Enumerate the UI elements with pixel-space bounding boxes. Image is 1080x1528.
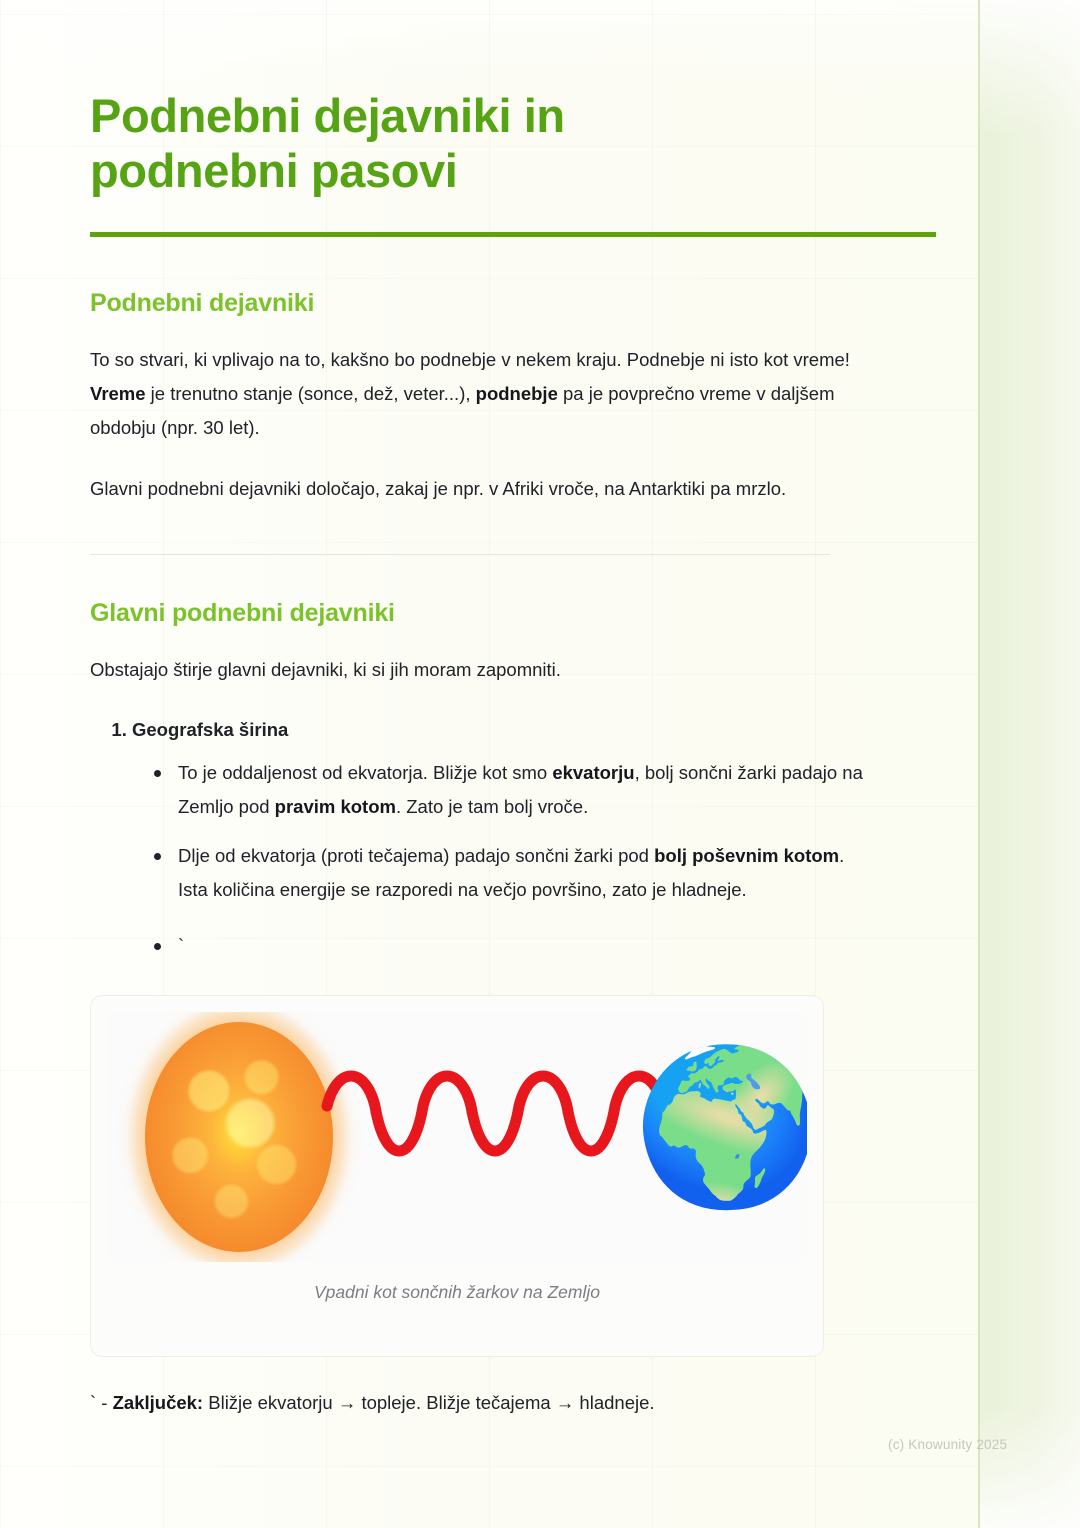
sun-surface-texture [145,1022,333,1252]
sun-disc [145,1022,333,1252]
list-item: Dlje od ekvatorja (proti tečajema) padaj… [150,839,878,907]
paragraph-definition-bold-vreme: Vreme [90,383,146,404]
bullet-bold-bolj-posevnim-kotom: bolj poševnim kotom [654,845,839,866]
paragraph-list-intro: Obstajajo štirje glavni dejavniki, ki si… [90,653,850,687]
bullet-text-backtick: ` [178,935,184,956]
list-item: To je oddaljenost od ekvatorja. Bližje k… [150,756,878,824]
list-item: ` [150,929,878,963]
bullet-bold-ekvatorju: ekvatorju [552,762,634,783]
paragraph-definition-text-1: To so stvari, ki vplivajo na to, kakšno … [90,349,850,370]
list-item-geografska-sirina: Geografska širina To je oddaljenost od e… [132,713,938,963]
sub-bullet-list: To je oddaljenost od ekvatorja. Bližje k… [132,756,938,963]
paragraph-definition-text-2: je trenutno stanje (sonce, dež, veter...… [146,383,476,404]
conclusion-prefix: ` - [90,1392,113,1413]
section-divider [90,554,830,555]
bullet-text-1: To je oddaljenost od ekvatorja. Bližje k… [178,762,552,783]
list-item-label: Geografska širina [132,719,288,740]
earth-globe-icon: 🌍 [633,1048,791,1206]
main-numbered-list: Geografska širina To je oddaljenost od e… [90,713,938,963]
content-column: Podnebni dejavniki in podnebni pasovi Po… [90,0,938,1528]
figure-image-panel: 🌍 [107,1012,807,1262]
right-margin-band [978,0,1080,1528]
paragraph-definition: To so stvari, ki vplivajo na to, kakšno … [90,343,850,446]
figure-card: 🌍 Vpadni kot sončnih žarkov na Zemljo [90,995,824,1357]
title-underline-rule [90,232,936,237]
section-heading-glavni-podnebni-dejavniki: Glavni podnebni dejavniki [90,599,938,628]
conclusion-bold-label: Zaključek: [113,1392,204,1413]
section-heading-podnebni-dejavniki: Podnebni dejavniki [90,289,938,318]
page-title: Podnebni dejavniki in podnebni pasovi [90,0,730,199]
sun-icon [131,1012,347,1262]
paragraph-examples: Glavni podnebni dejavniki določajo, zaka… [90,472,850,506]
conclusion-text: Bližje ekvatorju → topleje. Bližje tečaj… [203,1392,654,1413]
conclusion-line: ` - Zaključek: Bližje ekvatorju → toplej… [90,1357,938,1418]
bullet-bold-pravim-kotom: pravim kotom [275,796,396,817]
paragraph-definition-bold-podnebje: podnebje [476,383,558,404]
note-page: Podnebni dejavniki in podnebni pasovi Po… [0,0,1080,1528]
bullet-text-1: Dlje od ekvatorja (proti tečajema) padaj… [178,845,654,866]
watermark: (c) Knowunity 2025 [888,1437,1007,1452]
bullet-text-3: . Zato je tam bolj vroče. [396,796,588,817]
figure-caption: Vpadni kot sončnih žarkov na Zemljo [91,1282,823,1303]
